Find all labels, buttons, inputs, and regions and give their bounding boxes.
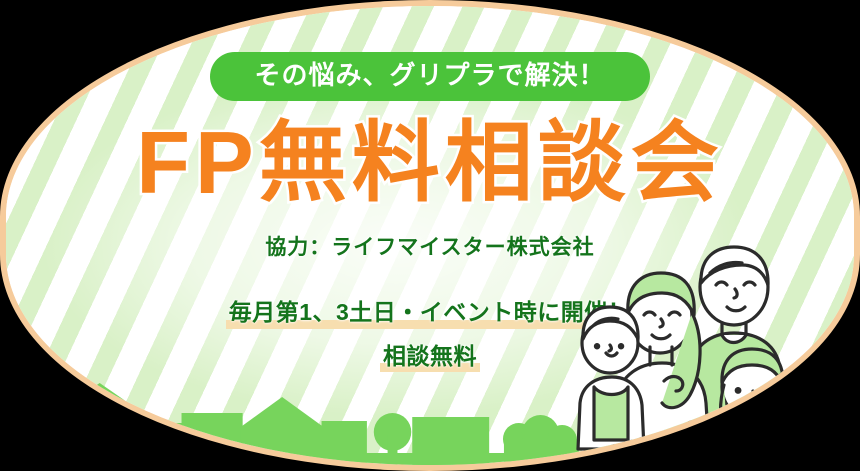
- free-consultation-text: 相談無料: [380, 339, 480, 377]
- fp-consultation-banner: その悩み、グリプラで解決！ FP無料相談会 協力：ライフマイスター株式会社 毎月…: [0, 0, 860, 471]
- tagline-badge: その悩み、グリプラで解決！: [210, 52, 649, 101]
- family-of-four-illustration: [564, 235, 816, 465]
- page-title: FP無料相談会: [136, 117, 723, 209]
- cooperation-text: 協力：ライフマイスター株式会社: [265, 231, 594, 261]
